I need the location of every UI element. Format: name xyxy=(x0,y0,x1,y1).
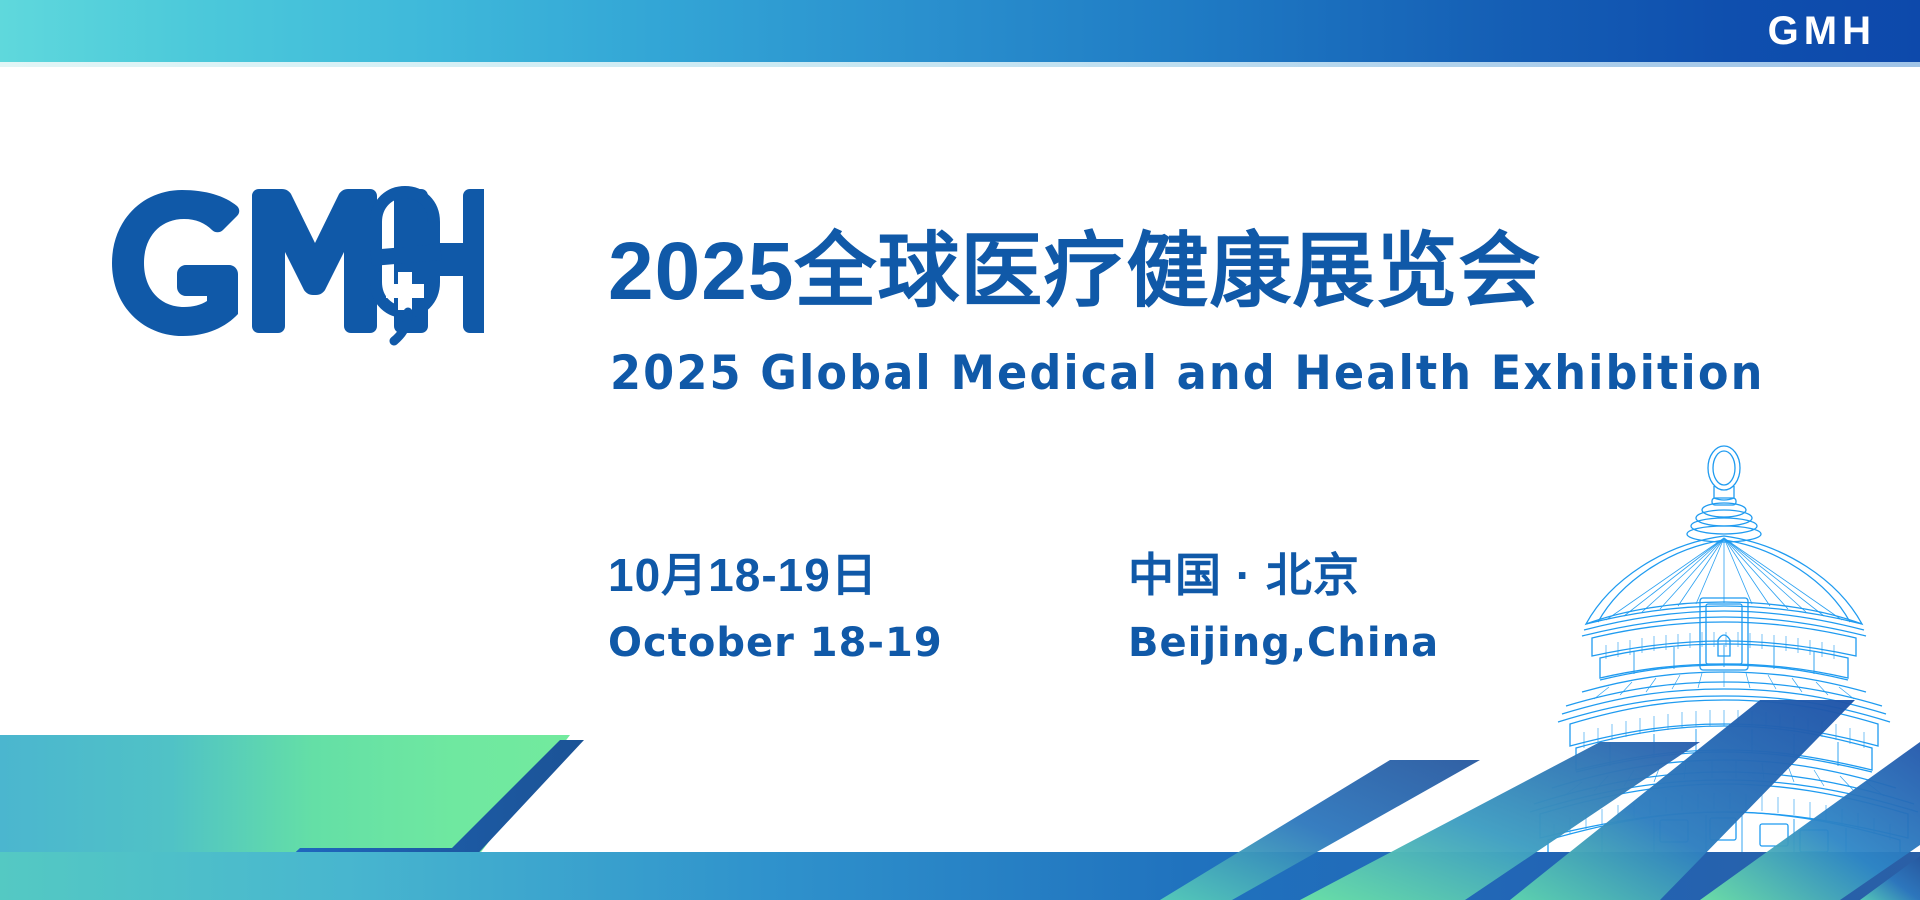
top-bar-brand-text: GMH xyxy=(1768,2,1876,60)
event-date-block: 10月18-19日 October 18-19 xyxy=(608,540,1038,676)
decor-bottom-bar xyxy=(0,852,1920,900)
event-location-english: Beijing,China xyxy=(1128,610,1468,676)
event-location-block: 中国 · 北京 Beijing,China xyxy=(1038,540,1468,676)
top-bar xyxy=(0,0,1920,62)
page-title-chinese: 2025全球医疗健康展览会 xyxy=(608,222,1541,322)
decor-slab-green xyxy=(0,735,570,860)
decor-ribbons xyxy=(1160,700,1920,900)
decor-stripe-dark xyxy=(285,740,584,862)
event-location-chinese: 中国 · 北京 xyxy=(1128,540,1468,610)
event-banner: GMH xyxy=(0,0,1920,900)
event-date-chinese: 10月18-19日 xyxy=(608,540,1038,610)
event-info: 10月18-19日 October 18-19 中国 · 北京 Beijing,… xyxy=(608,540,1468,676)
page-title-english: 2025 Global Medical and Health Exhibitio… xyxy=(610,346,1764,402)
gmh-logo-mark xyxy=(108,186,488,346)
top-bar-underline xyxy=(0,62,1920,67)
temple-of-heaven-illustration xyxy=(1514,440,1920,860)
bottom-decoration xyxy=(0,0,1920,900)
event-date-english: October 18-19 xyxy=(608,610,1038,676)
